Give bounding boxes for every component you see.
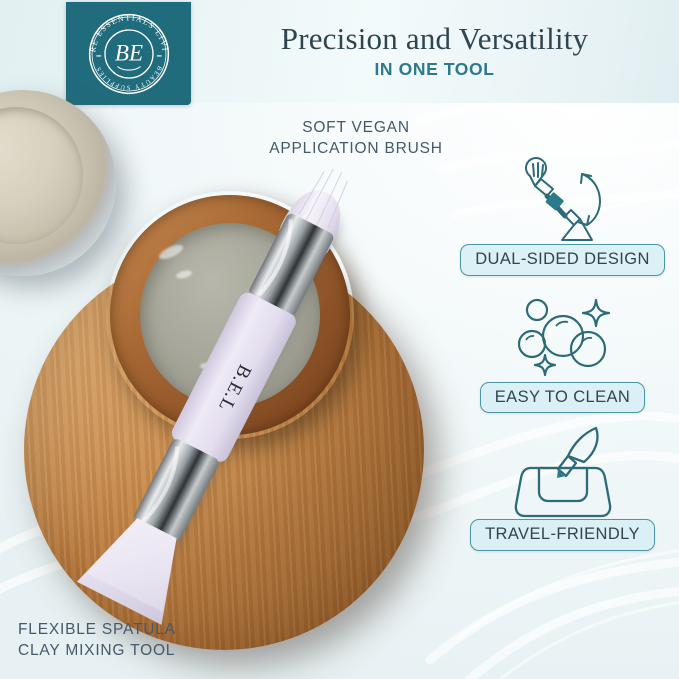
caption-spatula-line1: FLEXIBLE SPATULA: [18, 620, 270, 641]
clay-mask-mixture: [140, 223, 320, 407]
product-photo-scene: B.E.L: [0, 95, 470, 655]
product-infographic: Precision and Versatility IN ONE TOOL BA…: [0, 0, 679, 679]
page-title: Precision and Versatility: [281, 23, 589, 56]
wooden-bowl: [106, 191, 354, 439]
brand-seal-icon: BARE ESSENTIALS LIVING BEAUTY SUPPLIES B…: [81, 6, 177, 102]
feature-easy-to-clean: EASY TO CLEAN: [455, 290, 670, 414]
feature-list: DUAL-SIDED DESIGN: [455, 152, 670, 565]
caption-brush-line2: APPLICATION BRUSH: [236, 139, 476, 160]
caption-spatula-line2: CLAY MIXING TOOL: [18, 641, 270, 662]
feature-label-easy-to-clean: EASY TO CLEAN: [480, 382, 645, 414]
brand-logo-tile: BARE ESSENTIALS LIVING BEAUTY SUPPLIES B…: [66, 2, 191, 105]
caption-spatula-end: FLEXIBLE SPATULA CLAY MIXING TOOL: [18, 620, 270, 662]
feature-label-dual-sided-design: DUAL-SIDED DESIGN: [460, 244, 665, 276]
feature-label-travel-friendly: TRAVEL-FRIENDLY: [470, 519, 655, 551]
caption-brush-line1: SOFT VEGAN: [236, 118, 476, 139]
feature-dual-sided-design: DUAL-SIDED DESIGN: [455, 152, 670, 276]
cosmetic-pouch-brush-icon: [504, 427, 622, 519]
feature-travel-friendly: TRAVEL-FRIENDLY: [455, 427, 670, 551]
bubbles-sparkle-icon: [504, 290, 622, 382]
header-text-block: Precision and Versatility IN ONE TOOL: [190, 0, 679, 103]
page-subtitle: IN ONE TOOL: [374, 59, 494, 80]
dual-ended-brush-rotation-icon: [504, 152, 622, 244]
clay-powder-bowl: [0, 90, 116, 276]
caption-brush-end: SOFT VEGAN APPLICATION BRUSH: [236, 118, 476, 160]
svg-text:BE: BE: [114, 39, 142, 65]
